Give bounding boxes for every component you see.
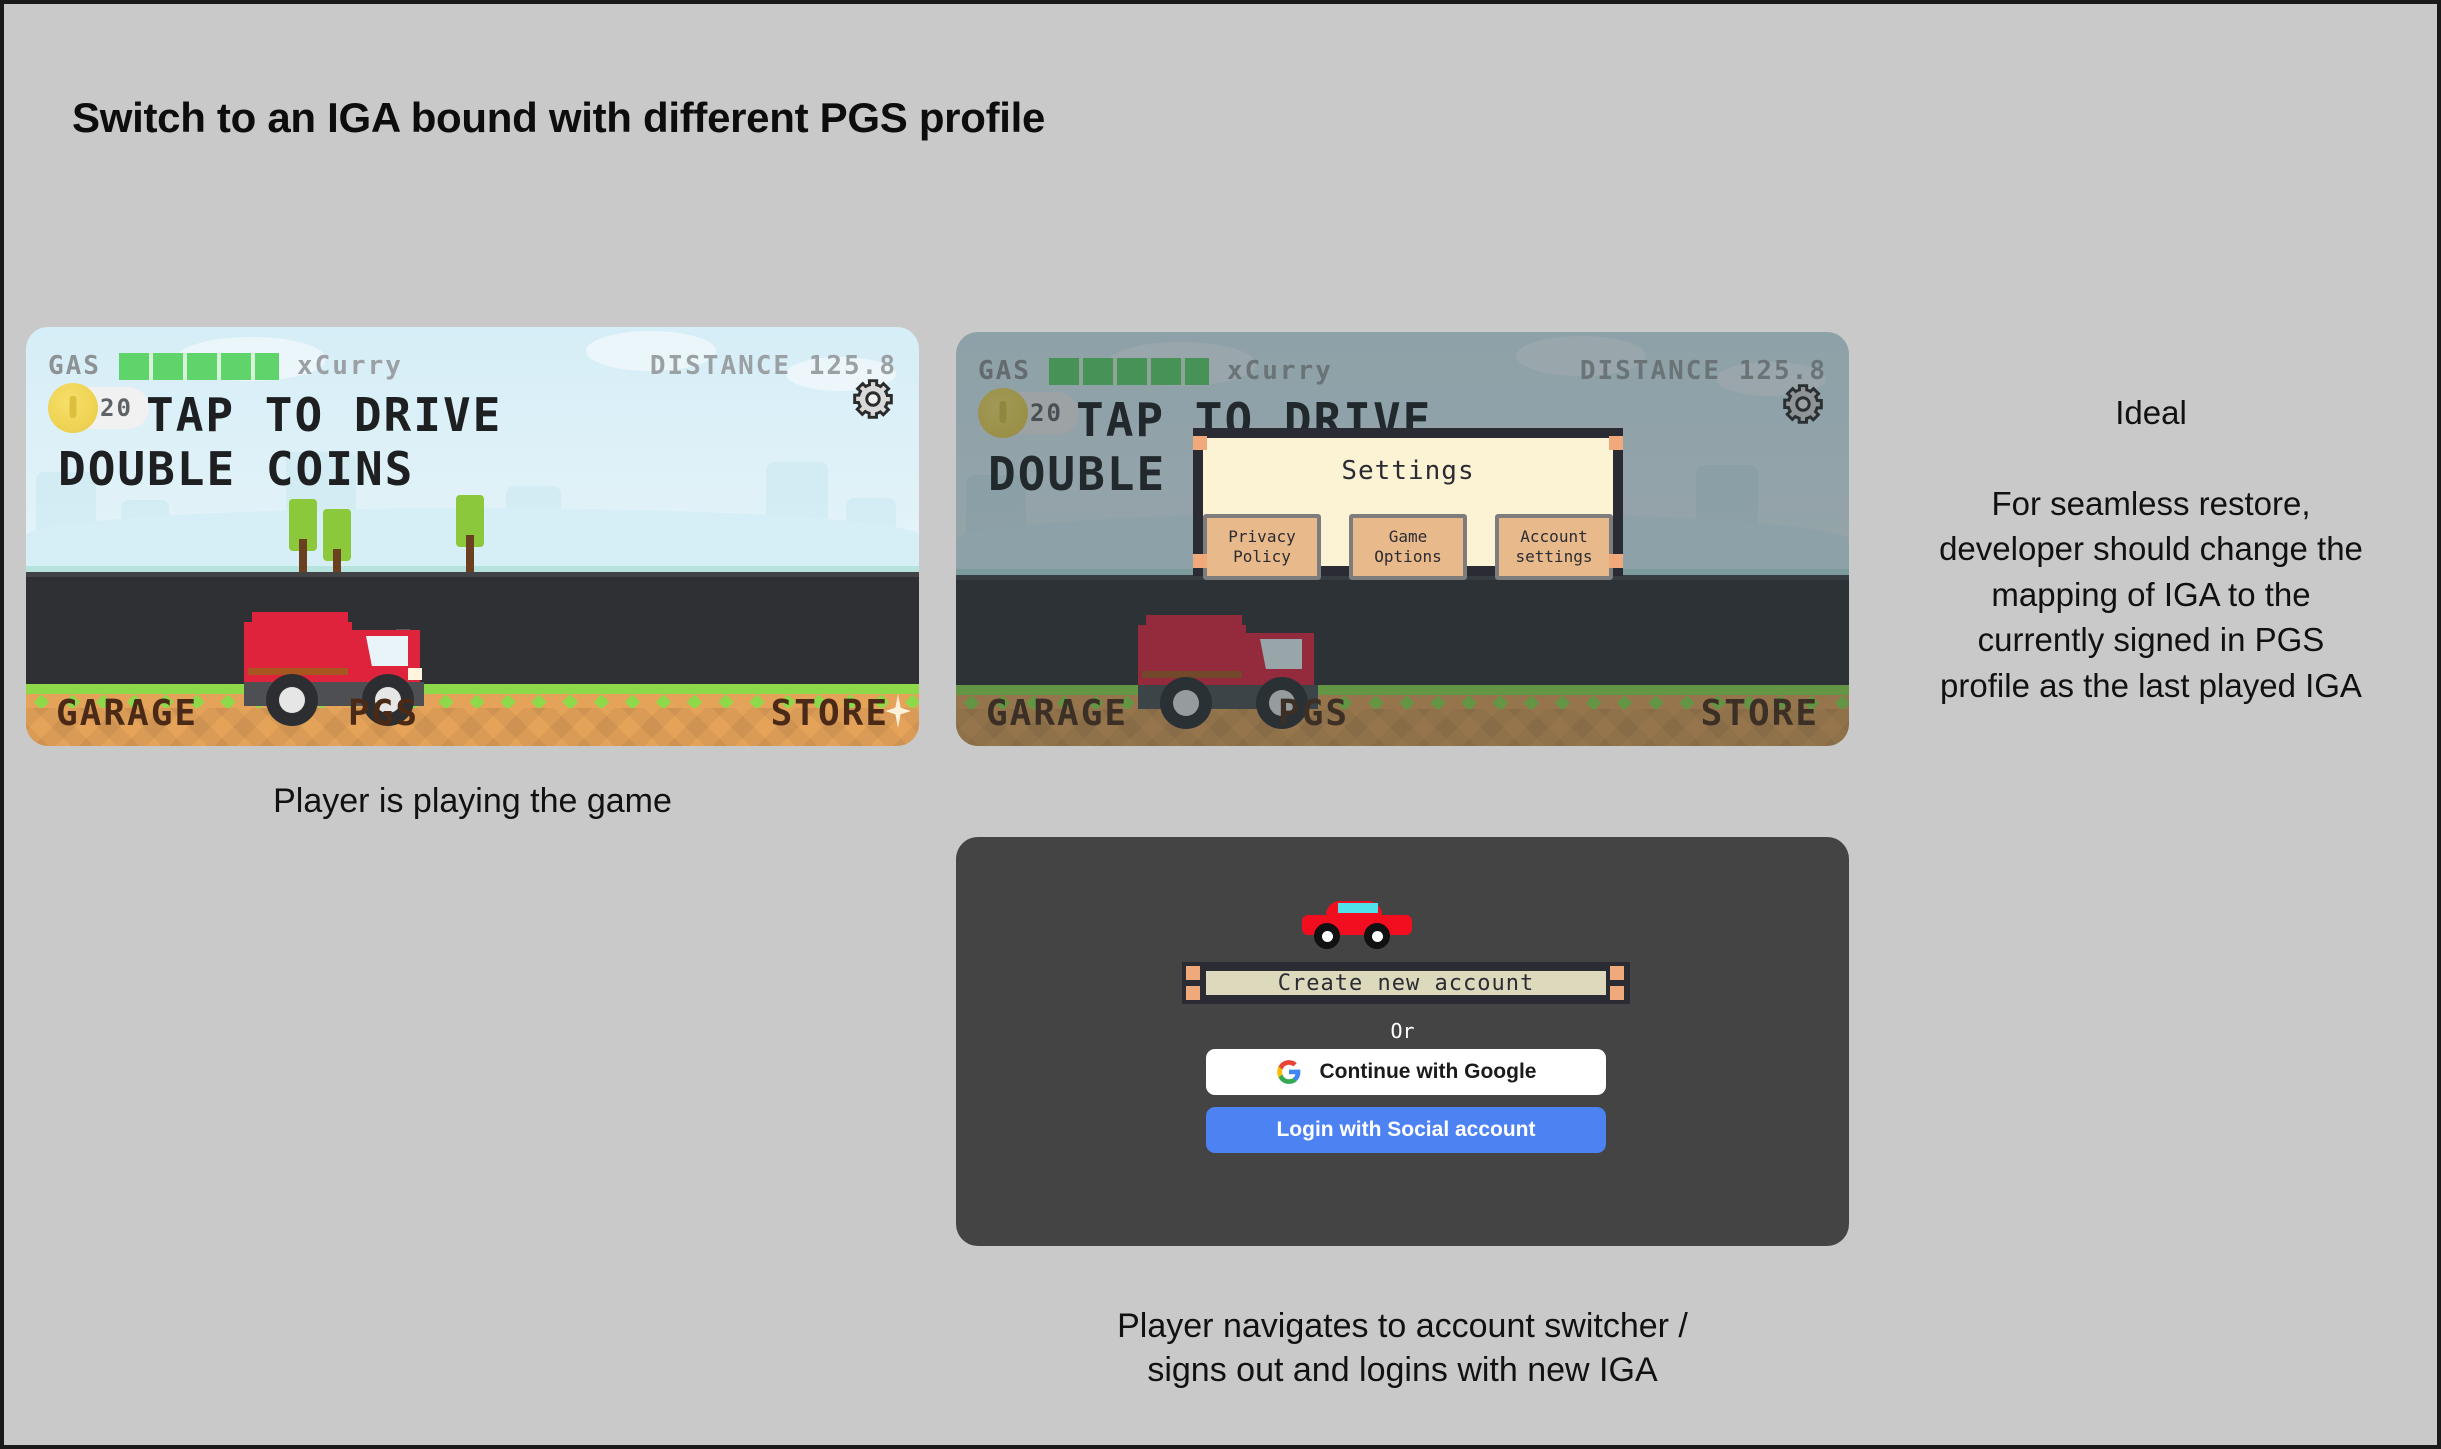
- coin-icon: [48, 383, 98, 433]
- continue-with-google-label: Continue with Google: [1320, 1060, 1537, 1084]
- game-options-line2: Options: [1374, 547, 1441, 566]
- gas-gauge: [119, 353, 279, 380]
- gear-icon[interactable]: [851, 377, 895, 421]
- car-windshield: [1338, 903, 1378, 913]
- account-settings-button[interactable]: Account settings: [1495, 514, 1613, 580]
- nav-garage[interactable]: GARAGE: [56, 693, 198, 734]
- settings-dialog: Settings Privacy Policy Game Options Acc…: [1193, 428, 1623, 576]
- page-title: Switch to an IGA bound with different PG…: [72, 94, 1045, 142]
- tap-to-drive-line1: TAP TO DRIVE: [146, 390, 502, 442]
- player-name: xCurry: [297, 351, 403, 381]
- caption-panel-3: Player navigates to account switcher / s…: [956, 1304, 1849, 1392]
- login-with-social-account-button[interactable]: Login with Social account: [1206, 1107, 1606, 1153]
- nav-store[interactable]: STORE: [771, 693, 889, 734]
- account-settings-line2: settings: [1515, 547, 1592, 566]
- privacy-policy-line1: Privacy: [1228, 527, 1295, 546]
- login-with-social-account-label: Login with Social account: [1276, 1118, 1535, 1142]
- settings-screenshot-panel: GAS xCurry DISTANCE 125.8 20 TAP TO DRIV…: [956, 332, 1849, 746]
- privacy-policy-line2: Policy: [1233, 547, 1291, 566]
- gas-label: GAS: [48, 351, 101, 381]
- nav-pgs[interactable]: PGS: [348, 693, 419, 734]
- dialog-corner: [1193, 436, 1207, 450]
- road: [26, 572, 919, 684]
- button-cap-right: [1606, 962, 1630, 1004]
- dialog-corner: [1193, 554, 1207, 568]
- truck-headlight: [408, 668, 422, 680]
- privacy-policy-button[interactable]: Privacy Policy: [1203, 514, 1321, 580]
- button-cap-left: [1182, 962, 1206, 1004]
- create-new-account-label: Create new account: [1278, 971, 1534, 996]
- car-wheel-rear: [1364, 923, 1390, 949]
- truck-cargo-top: [252, 612, 348, 626]
- tap-to-drive-line2: DOUBLE COINS: [58, 444, 414, 496]
- continue-with-google-button[interactable]: Continue with Google: [1206, 1049, 1606, 1095]
- bottom-nav: GARAGE PGS STORE: [26, 693, 919, 734]
- dialog-corner: [1609, 554, 1623, 568]
- truck-windshield: [366, 636, 408, 666]
- account-settings-line1: Account: [1520, 527, 1587, 546]
- caption-panel-1: Player is playing the game: [26, 779, 919, 823]
- coin-count: 20: [100, 394, 133, 422]
- slide-canvas: Switch to an IGA bound with different PG…: [0, 0, 2441, 1449]
- ideal-note-heading: Ideal: [1876, 390, 2426, 436]
- create-new-account-button[interactable]: Create new account: [1206, 962, 1606, 1004]
- car-sprite: [1302, 897, 1412, 945]
- game-options-line1: Game: [1389, 527, 1428, 546]
- google-g-icon: [1276, 1059, 1302, 1085]
- coin-counter: 20: [58, 387, 149, 429]
- hud-top-row: GAS xCurry DISTANCE 125.8: [26, 351, 919, 381]
- tree-trunk: [466, 535, 474, 577]
- settings-dialog-title: Settings: [1203, 456, 1613, 486]
- game-options-button[interactable]: Game Options: [1349, 514, 1467, 580]
- ideal-note-body: For seamless restore, developer should c…: [1876, 481, 2426, 709]
- settings-dialog-buttons: Privacy Policy Game Options Account sett…: [1203, 514, 1613, 580]
- dialog-corner: [1609, 436, 1623, 450]
- or-divider-label: Or: [956, 1019, 1849, 1043]
- account-switcher-panel: Create new account Or Continue with Goog…: [956, 837, 1849, 1246]
- car-wheel-front: [1314, 923, 1340, 949]
- gameplay-screenshot-panel: GAS xCurry DISTANCE 125.8 20 TAP TO DRIV…: [26, 327, 919, 746]
- ideal-note-block: Ideal For seamless restore, developer sh…: [1876, 344, 2426, 754]
